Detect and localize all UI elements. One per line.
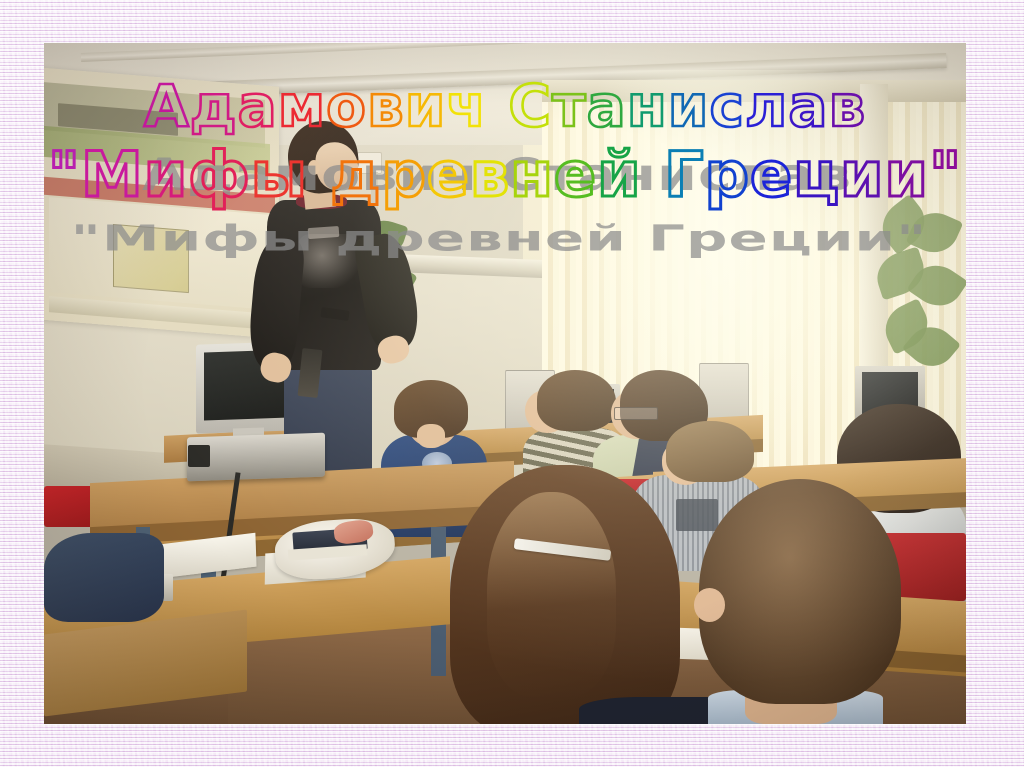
student-grey-sweater-hair bbox=[666, 421, 754, 482]
projected-picture bbox=[113, 224, 189, 293]
jacket-on-chair bbox=[44, 533, 164, 622]
sweater-print bbox=[676, 499, 718, 530]
presenter-shirt-logo bbox=[307, 226, 339, 239]
projector-lens bbox=[188, 445, 210, 467]
wall-socket bbox=[357, 152, 381, 174]
boy-foreground-hair bbox=[699, 479, 902, 704]
presenter-shirt-print bbox=[298, 234, 359, 288]
classroom-photo bbox=[44, 43, 966, 724]
student-blue-jacket-hand bbox=[417, 424, 445, 447]
student-striped-hair bbox=[537, 370, 615, 431]
girl-hair-highlight bbox=[487, 492, 616, 696]
slide-canvas: Адамович Станислав "Мифы древней Греции"… bbox=[0, 0, 1024, 767]
eyeglasses bbox=[614, 407, 658, 420]
boy-foreground-ear bbox=[694, 588, 725, 622]
presenter-ear bbox=[308, 160, 320, 175]
